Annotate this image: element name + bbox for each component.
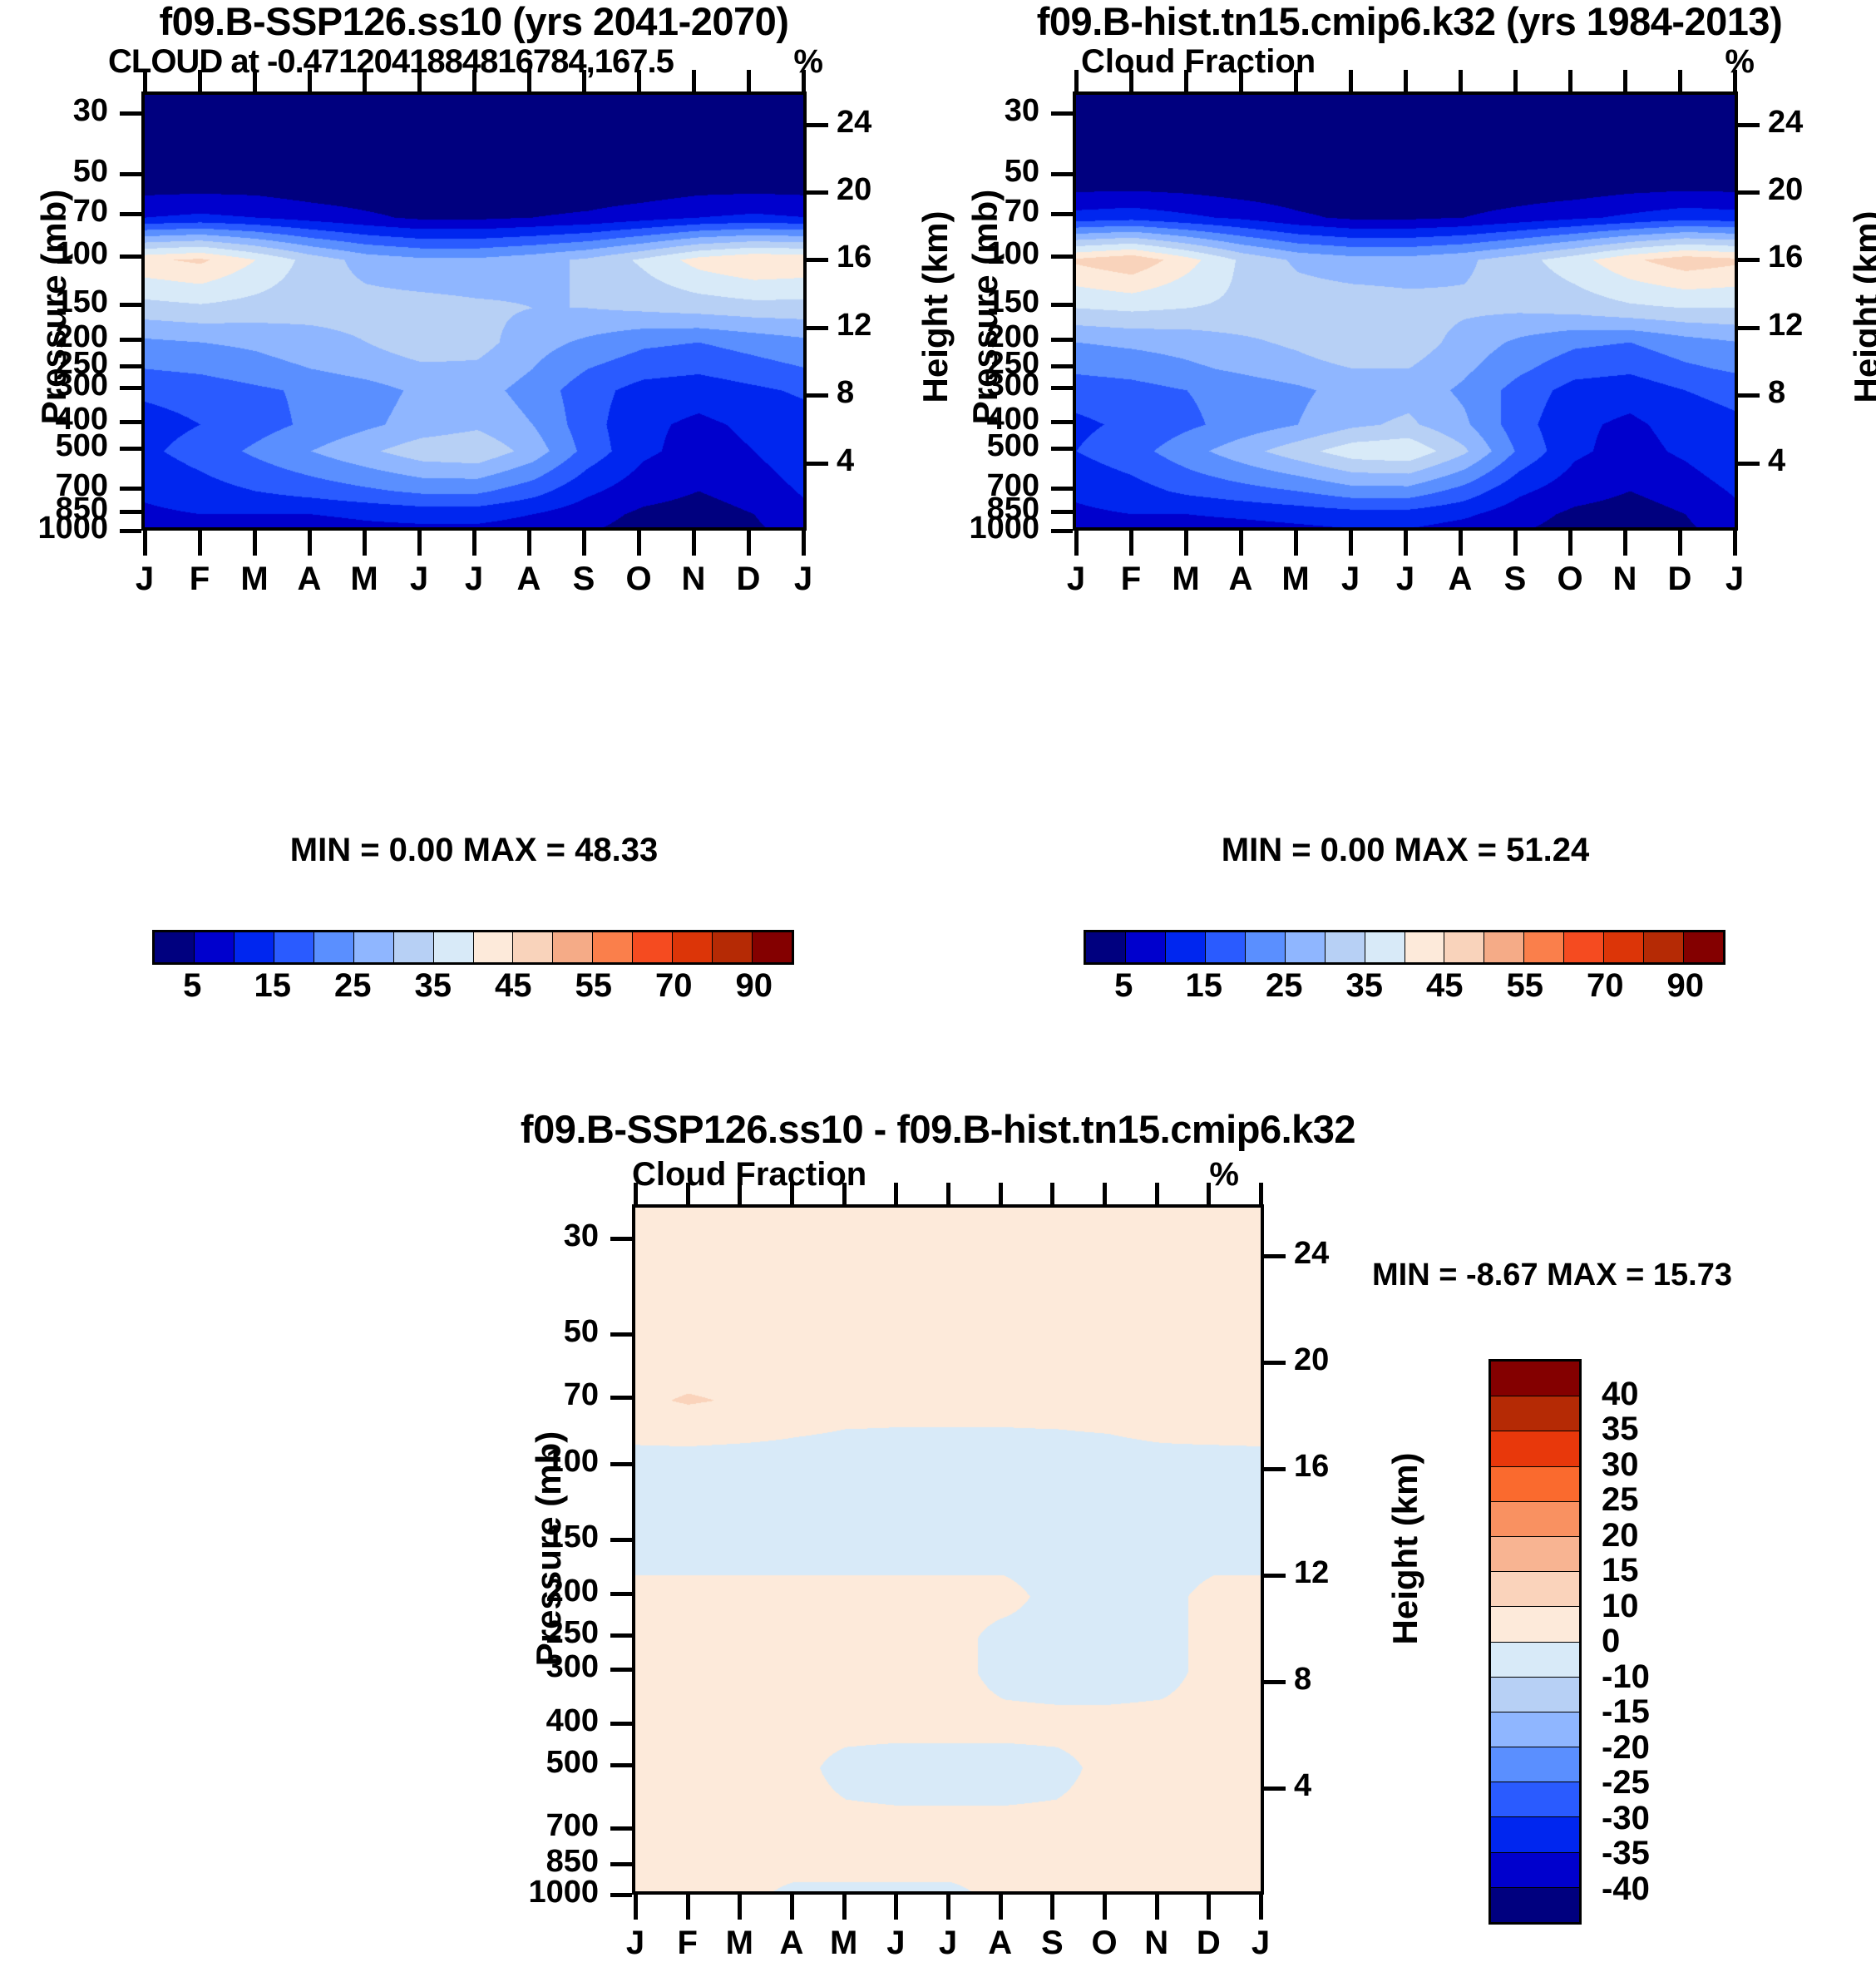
height-tick [1264,1254,1286,1258]
colorbar-swatch [1491,1467,1579,1502]
axis-tick-bottom [472,531,476,556]
axis-tick-bottom [637,531,641,556]
pressure-tick [1051,487,1073,491]
month-label: A [979,1925,1022,1962]
colorbar-label: 35 [392,967,475,1005]
pressure-tick-label: 70 [0,194,108,230]
axis-tick-bottom [686,1895,690,1920]
axis-tick-bottom [143,531,147,556]
axis-tick-top [1184,70,1188,91]
month-label: A [1219,561,1262,598]
axis-tick-top [999,1183,1003,1204]
height-tick-label: 16 [837,240,911,275]
axis-tick-top [472,70,476,91]
colorbar-swatch [354,932,394,962]
axis-tick-top [417,70,422,91]
pressure-tick-label: 70 [466,1377,599,1413]
month-label: M [718,1925,761,1962]
panel-ssp126-colorbar[interactable] [152,930,794,965]
colorbar-swatch [1524,932,1564,962]
axis-tick-top [790,1183,794,1204]
month-label: N [672,561,715,598]
panel-ssp126-subtitle-units: % [732,43,823,81]
month-label: A [288,561,331,598]
colorbar-label: -10 [1602,1658,1726,1696]
axis-tick-bottom [1733,531,1737,556]
colorbar-swatch [274,932,314,962]
axis-tick-bottom [527,531,531,556]
axis-tick-bottom [842,1895,847,1920]
pressure-tick-label: 1000 [466,1875,599,1910]
height-tick-label: 20 [1768,172,1843,208]
month-label: J [1713,561,1756,598]
pressure-tick-label: 150 [466,1520,599,1555]
pressure-tick [120,172,141,176]
height-tick [1264,1467,1286,1471]
month-label: O [617,561,660,598]
panel-diff-colorbar[interactable] [1488,1359,1582,1925]
pressure-tick [1051,364,1073,368]
height-tick [1264,1787,1286,1791]
pressure-tick [610,1893,632,1897]
pressure-tick-label: 150 [0,284,108,320]
colorbar-swatch [1491,1712,1579,1747]
height-tick-label: 20 [837,172,911,208]
colorbar-swatch [1491,1853,1579,1888]
axis-tick-top [747,70,751,91]
pressure-tick [610,1668,632,1672]
height-tick [1264,1680,1286,1684]
height-tick-label: 20 [1294,1342,1369,1378]
axis-tick-top [582,70,586,91]
pressure-tick [120,111,141,116]
axis-tick-bottom [1239,531,1243,556]
axis-tick-top [1155,1183,1159,1204]
panel-ssp126-colorbar-labels: 515253545557090 [152,967,794,1007]
axis-tick-top [692,70,696,91]
pressure-tick-label: 100 [906,236,1039,272]
pressure-tick-label: 200 [466,1574,599,1609]
axis-tick-top [1103,1183,1107,1204]
colorbar-label: -35 [1602,1835,1726,1872]
height-tick-label: 4 [837,443,911,479]
month-label: J [1384,561,1427,598]
axis-tick-bottom [1459,531,1463,556]
pressure-tick-label: 30 [906,93,1039,129]
pressure-tick [610,1396,632,1400]
axis-tick-bottom [1568,531,1572,556]
height-tick-label: 24 [1294,1236,1369,1272]
colorbar-label: 35 [1602,1411,1726,1448]
month-label: J [123,561,166,598]
colorbar-swatch [1286,932,1326,962]
pressure-tick [120,487,141,491]
month-label: M [343,561,386,598]
height-tick [1738,462,1760,466]
panel-diff-subtitle-units: % [1148,1156,1239,1194]
colorbar-swatch [1491,1747,1579,1782]
colorbar-swatch [1491,1607,1579,1642]
colorbar-swatch [1405,932,1445,962]
height-tick [1738,190,1760,195]
pressure-tick [1051,420,1073,424]
axis-tick-top [637,70,641,91]
colorbar-swatch [1246,932,1286,962]
month-label: J [452,561,496,598]
height-tick-label: 4 [1768,443,1843,479]
axis-tick-top [253,70,257,91]
colorbar-swatch [1684,932,1723,962]
height-tick-label: 12 [1294,1555,1369,1591]
height-tick [807,258,828,262]
axis-tick-bottom [1207,1895,1211,1920]
colorbar-swatch [753,932,792,962]
axis-tick-top [1129,70,1133,91]
colorbar-label: 5 [1082,967,1165,1005]
axis-tick-bottom [417,531,422,556]
pressure-tick [1051,111,1073,116]
pressure-tick [610,1332,632,1337]
axis-tick-bottom [1184,531,1188,556]
pressure-tick-label: 100 [466,1444,599,1480]
colorbar-swatch [1484,932,1524,962]
pressure-tick [120,303,141,307]
colorbar-swatch [1126,932,1166,962]
month-label: J [926,1925,970,1962]
axis-tick-bottom [1129,531,1133,556]
axis-tick-top [686,1183,690,1204]
axis-tick-top [1259,1183,1263,1204]
panel-hist-colorbar-labels: 515253545557090 [1084,967,1725,1007]
colorbar-swatch [1564,932,1604,962]
month-label: N [1135,1925,1178,1962]
axis-tick-bottom [1349,531,1353,556]
month-label: F [1109,561,1153,598]
axis-tick-bottom [308,531,312,556]
pressure-tick-label: 250 [466,1615,599,1651]
pressure-tick [1051,303,1073,307]
pressure-tick-label: 70 [906,194,1039,230]
colorbar-swatch [1491,1678,1579,1712]
panel-hist-colorbar[interactable] [1084,930,1725,965]
pressure-tick [1051,529,1073,533]
panel-hist-plot[interactable] [1073,91,1738,531]
colorbar-label: 25 [1242,967,1326,1005]
panel-ssp126-plot[interactable] [141,91,807,531]
axis-tick-top [1513,70,1518,91]
month-label: J [1239,1925,1282,1962]
colorbar-swatch [513,932,553,962]
colorbar-swatch [1491,1572,1579,1607]
height-tick [1738,123,1760,127]
axis-tick-top [1459,70,1463,91]
month-label: S [1030,1925,1074,1962]
pressure-tick-label: 50 [466,1314,599,1350]
month-label: J [397,561,441,598]
axis-tick-top [634,1183,638,1204]
month-label: D [1658,561,1701,598]
pressure-tick-label: 300 [906,368,1039,403]
axis-tick-top [527,70,531,91]
axis-tick-bottom [999,1895,1003,1920]
panel-diff-colorbar-labels: 403530252015100-10-15-20-25-30-35-40 [1590,1359,1740,1925]
height-tick-label: 8 [837,375,911,411]
month-label: D [727,561,770,598]
pressure-tick [120,447,141,451]
pressure-tick [610,1633,632,1638]
pressure-tick-label: 300 [0,368,108,403]
pressure-tick-label: 300 [466,1649,599,1685]
pressure-tick [1051,338,1073,342]
colorbar-swatch [673,932,713,962]
colorbar-label: -25 [1602,1764,1726,1801]
colorbar-swatch [195,932,234,962]
panel-diff-plot[interactable] [632,1204,1264,1895]
axis-tick-top [1207,1183,1211,1204]
colorbar-label: 10 [1602,1588,1726,1625]
panel-diff-minmax: MIN = -8.67 MAX = 15.73 [1372,1258,1804,1293]
colorbar-label: 15 [231,967,314,1005]
height-tick-label: 12 [837,308,911,343]
height-tick-label: 12 [1768,308,1843,343]
pressure-tick-label: 30 [0,93,108,129]
axis-tick-bottom [1259,1895,1263,1920]
colorbar-label: -15 [1602,1693,1726,1731]
month-label: O [1548,561,1592,598]
height-tick [1738,393,1760,398]
month-label: D [1187,1925,1230,1962]
height-tick-label: 16 [1294,1449,1369,1485]
colorbar-label: 90 [713,967,796,1005]
colorbar-label: 55 [1484,967,1567,1005]
pressure-tick [610,1538,632,1542]
colorbar-swatch [593,932,633,962]
height-tick [807,190,828,195]
axis-tick-top [894,1183,898,1204]
axis-tick-bottom [1074,531,1079,556]
axis-tick-top [1733,70,1737,91]
height-tick [807,462,828,466]
colorbar-swatch [1326,932,1365,962]
colorbar-label: 40 [1602,1376,1726,1413]
colorbar-label: 5 [151,967,234,1005]
height-tick [1264,1574,1286,1578]
axis-tick-top [198,70,202,91]
pressure-tick-label: 50 [906,154,1039,190]
panel-diff-subtitle-left: Cloud Fraction [632,1156,1131,1194]
month-label: A [1439,561,1482,598]
colorbar-label: 70 [1563,967,1646,1005]
pressure-tick [610,1592,632,1596]
colorbar-swatch [155,932,195,962]
axis-tick-bottom [790,1895,794,1920]
colorbar-label: 0 [1602,1623,1726,1660]
month-label: J [1329,561,1372,598]
height-tick-label: 4 [1294,1768,1369,1804]
axis-tick-bottom [946,1895,950,1920]
colorbar-label: 15 [1163,967,1246,1005]
axis-tick-bottom [738,1895,742,1920]
colorbar-swatch [633,932,673,962]
colorbar-swatch [713,932,753,962]
height-tick-label: 16 [1768,240,1843,275]
axis-tick-top [1404,70,1408,91]
pressure-tick [1051,447,1073,451]
axis-tick-bottom [1294,531,1298,556]
pressure-tick [120,386,141,390]
colorbar-swatch [1491,1362,1579,1396]
month-label: M [1164,561,1207,598]
colorbar-label: 25 [311,967,394,1005]
panel-hist-subtitle-left: Cloud Fraction [1081,43,1663,81]
colorbar-label: 15 [1602,1552,1726,1589]
colorbar-swatch [394,932,434,962]
pressure-tick [610,1722,632,1726]
colorbar-swatch [1491,1888,1579,1922]
height-tick [1738,326,1760,330]
axis-tick-bottom [692,531,696,556]
month-label: F [178,561,221,598]
axis-tick-bottom [1155,1895,1159,1920]
pressure-tick-label: 30 [466,1218,599,1254]
height-tick [1264,1361,1286,1365]
colorbar-swatch [1491,1537,1579,1572]
axis-tick-top [1050,1183,1054,1204]
colorbar-swatch [234,932,274,962]
height-tick [807,123,828,127]
colorbar-swatch [1644,932,1684,962]
axis-tick-bottom [1103,1895,1107,1920]
axis-tick-top [363,70,367,91]
colorbar-swatch [1206,932,1246,962]
axis-tick-top [1294,70,1298,91]
colorbar-label: 25 [1602,1481,1726,1519]
colorbar-swatch [434,932,474,962]
panel-hist-ylabel-right: Height (km) [1847,170,1876,444]
month-label: M [1274,561,1317,598]
pressure-tick [120,338,141,342]
colorbar-swatch [1365,932,1405,962]
axis-tick-top [1568,70,1572,91]
height-tick [807,326,828,330]
colorbar-swatch [1491,1782,1579,1817]
axis-tick-bottom [363,531,367,556]
axis-tick-bottom [1513,531,1518,556]
pressure-tick [120,420,141,424]
pressure-tick [120,364,141,368]
axis-tick-bottom [747,531,751,556]
height-tick-label: 8 [1768,375,1843,411]
pressure-tick [610,1826,632,1831]
colorbar-label: 45 [471,967,555,1005]
axis-tick-bottom [802,531,806,556]
pressure-tick [120,212,141,216]
axis-tick-bottom [198,531,202,556]
colorbar-label: 55 [552,967,635,1005]
pressure-tick [610,1237,632,1241]
colorbar-swatch [1086,932,1126,962]
panel-hist-subtitle-units: % [1663,43,1755,81]
colorbar-label: 30 [1602,1446,1726,1484]
colorbar-swatch [1166,932,1206,962]
pressure-tick [1051,510,1073,514]
panel-hist-title: f09.B-hist.tn15.cmip6.k32 (yrs 1984-2013… [956,0,1863,44]
colorbar-swatch [314,932,354,962]
colorbar-label: -20 [1602,1729,1726,1767]
month-label: O [1083,1925,1126,1962]
axis-tick-top [738,1183,742,1204]
colorbar-swatch [1604,932,1644,962]
pressure-tick [610,1862,632,1866]
pressure-tick-label: 50 [0,154,108,190]
month-label: M [233,561,276,598]
pressure-tick-label: 500 [906,428,1039,464]
axis-tick-top [1239,70,1243,91]
month-label: J [614,1925,657,1962]
pressure-tick-label: 1000 [0,511,108,546]
colorbar-label: 20 [1602,1517,1726,1554]
panel-ssp126-title: f09.B-SSP126.ss10 (yrs 2041-2070) [50,0,898,44]
colorbar-swatch [1491,1502,1579,1537]
pressure-tick [1051,255,1073,259]
colorbar-label: 90 [1644,967,1727,1005]
axis-tick-bottom [1678,531,1682,556]
axis-tick-top [308,70,312,91]
axis-tick-bottom [253,531,257,556]
colorbar-label: 35 [1323,967,1406,1005]
axis-tick-top [143,70,147,91]
month-label: J [1054,561,1098,598]
month-label: A [770,1925,813,1962]
height-tick-label: 8 [1294,1662,1369,1698]
axis-tick-bottom [894,1895,898,1920]
month-label: N [1603,561,1646,598]
pressure-tick [1051,172,1073,176]
pressure-tick-label: 400 [466,1703,599,1739]
colorbar-label: -30 [1602,1800,1726,1837]
colorbar-swatch [474,932,514,962]
month-label: S [562,561,605,598]
pressure-tick-label: 500 [466,1745,599,1781]
axis-tick-top [1678,70,1682,91]
axis-tick-bottom [634,1895,638,1920]
month-label: A [507,561,550,598]
month-label: F [666,1925,709,1962]
pressure-tick [120,510,141,514]
axis-tick-bottom [1404,531,1408,556]
panel-ssp126-subtitle-left: CLOUD at -0.4712041884816784,167.5 [108,43,740,81]
panel-ssp126-minmax: MIN = 0.00 MAX = 48.33 [141,832,807,869]
pressure-tick [610,1763,632,1767]
axis-tick-top [802,70,806,91]
height-tick [807,393,828,398]
axis-tick-top [1349,70,1353,91]
axis-tick-top [946,1183,950,1204]
colorbar-swatch [1491,1643,1579,1678]
axis-tick-bottom [1623,531,1627,556]
axis-tick-bottom [1050,1895,1054,1920]
axis-tick-top [1074,70,1079,91]
colorbar-swatch [1491,1396,1579,1431]
pressure-tick [1051,212,1073,216]
panel-diff-title: f09.B-SSP126.ss10 - f09.B-hist.tn15.cmip… [356,1106,1520,1152]
month-label: M [822,1925,866,1962]
panel-diff-ylabel-right: Height (km) [1385,1399,1425,1698]
height-tick [1738,258,1760,262]
pressure-tick-label: 1000 [906,511,1039,546]
pressure-tick [120,255,141,259]
pressure-tick-label: 100 [0,236,108,272]
